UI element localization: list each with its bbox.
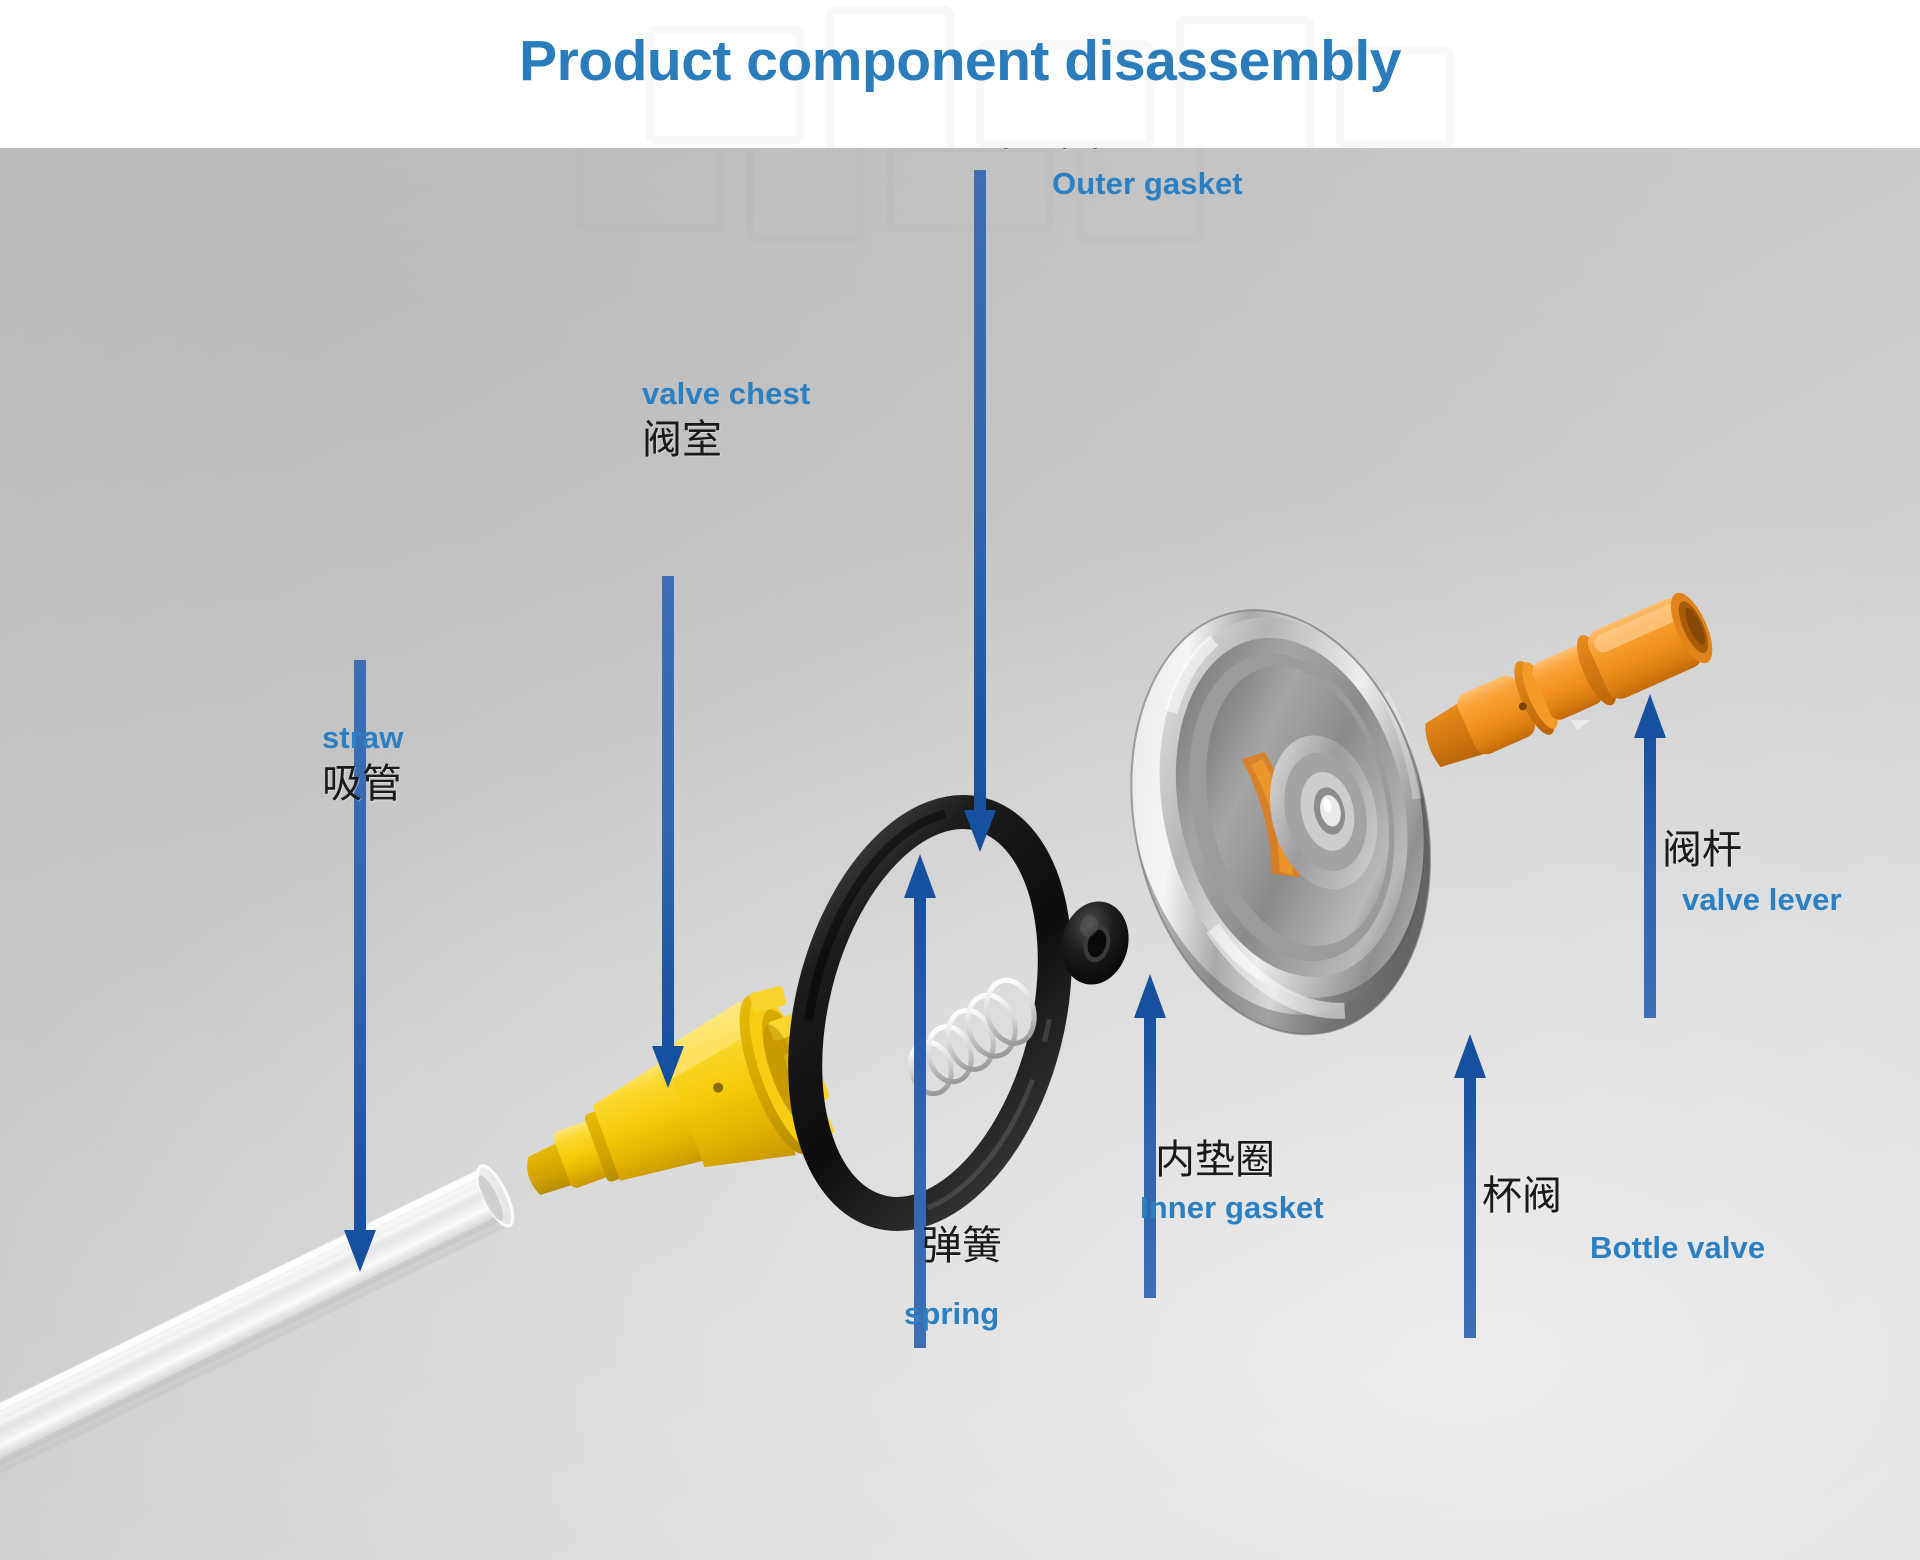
label-valve-lever-cn: 阀杆 [1662, 830, 1842, 872]
label-inner-gasket-cn: 内垫圈 [1155, 1140, 1324, 1182]
label-straw-cn: 吸管 [322, 764, 403, 806]
label-straw-en: straw [322, 722, 403, 754]
label-valve-chest-cn: 阀室 [642, 420, 810, 462]
part-valve-lever [1410, 578, 1740, 808]
label-valve-lever-en: valve lever [1682, 884, 1842, 916]
label-straw: straw 吸管 [322, 722, 403, 806]
label-outer-gasket: 外垫圈 Outer gasket [980, 148, 1243, 200]
label-spring-cn: 弹簧 [922, 1226, 1002, 1268]
label-valve-lever: 阀杆 valve lever [1662, 830, 1842, 916]
arrow-outer-gasket [960, 170, 1000, 860]
label-bottle-valve: 杯阀 Bottle valve [1482, 1176, 1765, 1264]
label-bottle-valve-cn: 杯阀 [1482, 1176, 1765, 1218]
label-inner-gasket: 内垫圈 Inner gasket [1155, 1140, 1324, 1224]
label-spring: 弹簧 spring [922, 1226, 1002, 1330]
label-valve-chest: valve chest 阀室 [642, 378, 810, 462]
diagram-stage: Product component disassembly [0, 0, 1920, 1560]
label-outer-gasket-en: Outer gasket [1052, 168, 1243, 200]
label-spring-en: spring [904, 1298, 1002, 1330]
part-spring [880, 968, 1060, 1108]
header-band: Product component disassembly [0, 0, 1920, 148]
page-title: Product component disassembly [0, 28, 1920, 94]
label-inner-gasket-en: Inner gasket [1140, 1192, 1324, 1224]
label-bottle-valve-en: Bottle valve [1590, 1232, 1765, 1264]
diagram-canvas: straw 吸管 valve chest 阀室 外垫圈 Outer gasket… [0, 148, 1920, 1560]
label-outer-gasket-cn: 外垫圈 [980, 148, 1243, 154]
label-valve-chest-en: valve chest [642, 378, 810, 410]
